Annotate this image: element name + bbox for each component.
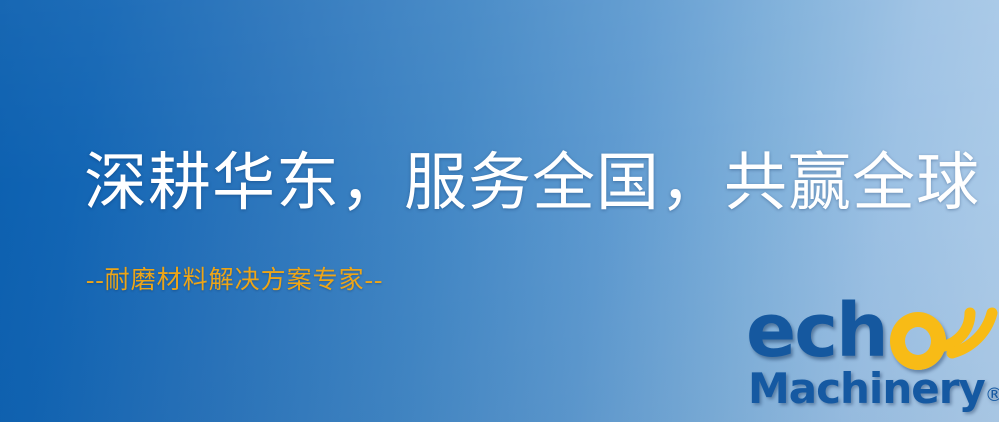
logo-tagline: Machinery®: [748, 368, 999, 410]
banner-headline: 深耕华东，服务全国，共赢全球: [84, 150, 980, 216]
logo-echo-text: ech: [746, 294, 887, 368]
hero-banner: 深耕华东，服务全国，共赢全球 --耐磨材料解决方案专家-- ech Machin…: [0, 0, 999, 422]
echo-wave-arcs-icon: [930, 291, 999, 363]
banner-subtitle: --耐磨材料解决方案专家--: [86, 266, 383, 296]
company-logo[interactable]: ech Machinery®: [744, 298, 999, 422]
registered-trademark-icon: ®: [985, 384, 999, 406]
logo-tagline-text: Machinery: [748, 364, 985, 413]
